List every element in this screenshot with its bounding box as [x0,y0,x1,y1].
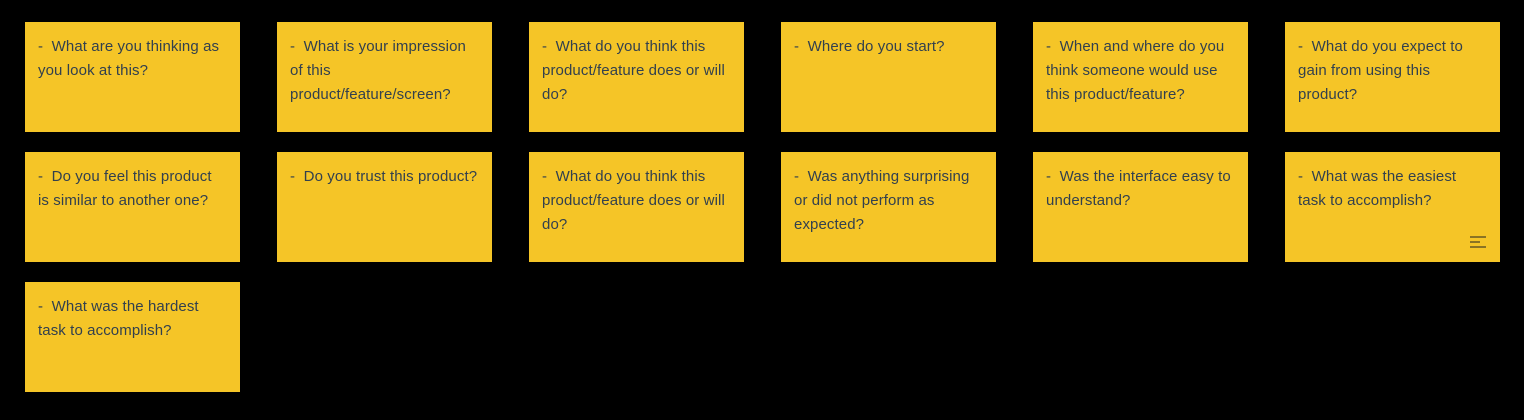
card-text: - Do you trust this product? [290,165,478,189]
sticky-note-card[interactable]: - Was the interface easy to understand? [1033,152,1248,262]
card-text: - Was the interface easy to understand? [1046,165,1234,213]
sticky-note-card[interactable]: - Was anything surprising or did not per… [781,152,996,262]
sticky-note-card[interactable]: - Where do you start? [781,22,996,132]
sticky-note-card[interactable]: - What was the hardest task to accomplis… [25,282,240,392]
card-text: - What do you think this product/feature… [542,165,730,237]
card-text: - When and where do you think someone wo… [1046,35,1234,107]
card-text: - Do you feel this product is similar to… [38,165,226,213]
text-align-icon-line [1470,241,1480,243]
sticky-note-card[interactable]: - When and where do you think someone wo… [1033,22,1248,132]
card-text: - What was the easiest task to accomplis… [1298,165,1486,213]
sticky-note-board: - What are you thinking as you look at t… [0,0,1524,420]
card-text: - What are you thinking as you look at t… [38,35,226,83]
card-text: - Where do you start? [794,35,982,59]
card-text: - What was the hardest task to accomplis… [38,295,226,343]
sticky-note-card[interactable]: - What do you expect to gain from using … [1285,22,1500,132]
text-align-icon[interactable] [1470,236,1486,248]
card-grid: - What are you thinking as you look at t… [25,22,1500,392]
sticky-note-card[interactable]: - What do you think this product/feature… [529,22,744,132]
card-text: - Was anything surprising or did not per… [794,165,982,237]
sticky-note-card[interactable]: - What was the easiest task to accomplis… [1285,152,1500,262]
text-align-icon-line [1470,236,1486,238]
sticky-note-card[interactable]: - What do you think this product/feature… [529,152,744,262]
sticky-note-card[interactable]: - What are you thinking as you look at t… [25,22,240,132]
text-align-icon-line [1470,246,1486,248]
card-text: - What is your impression of this produc… [290,35,478,107]
sticky-note-card[interactable]: - Do you feel this product is similar to… [25,152,240,262]
sticky-note-card[interactable]: - What is your impression of this produc… [277,22,492,132]
card-text: - What do you expect to gain from using … [1298,35,1486,107]
card-text: - What do you think this product/feature… [542,35,730,107]
sticky-note-card[interactable]: - Do you trust this product? [277,152,492,262]
